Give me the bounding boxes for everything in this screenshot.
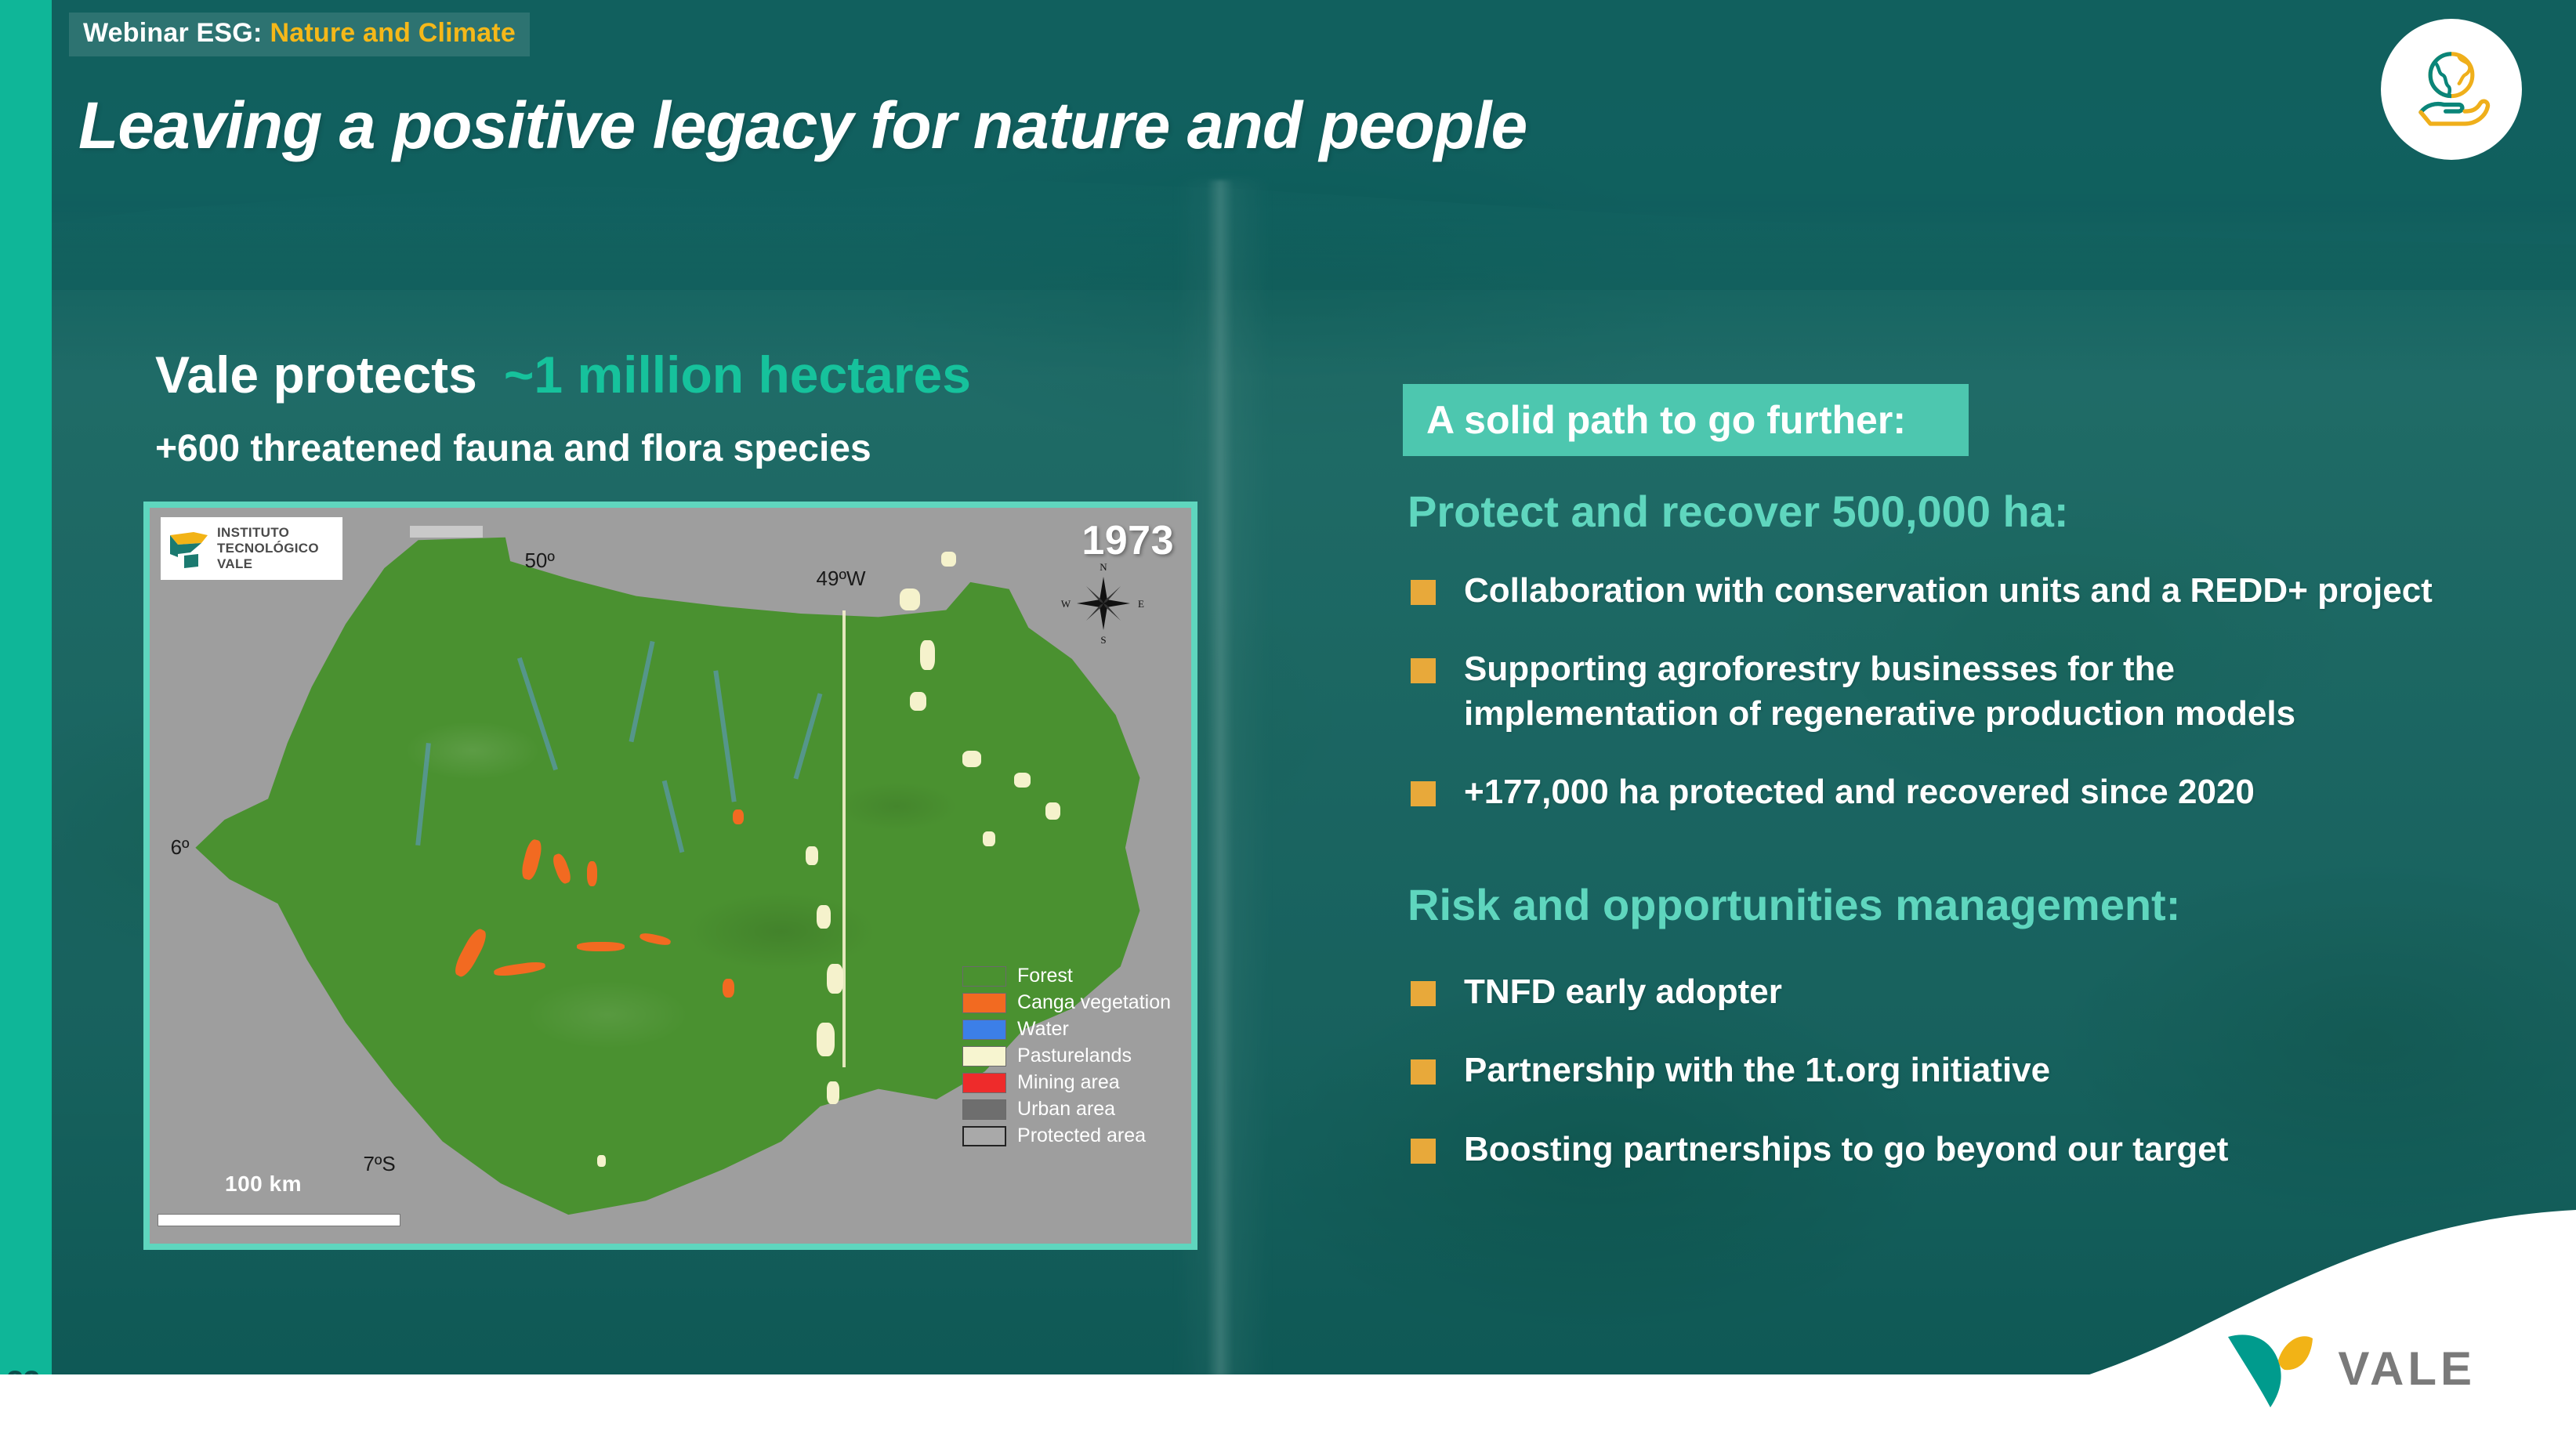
- compass-rose: N S W E: [1056, 555, 1150, 649]
- map-pasture-patch: [827, 964, 843, 994]
- vale-mark-icon: [2223, 1326, 2317, 1411]
- map-coordinate-label: 6º: [171, 835, 190, 860]
- legend-swatch-protected: [962, 1126, 1006, 1146]
- map-pasture-patch: [983, 831, 995, 846]
- itv-logo: INSTITUTO TECNOLÓGICO VALE: [161, 517, 342, 580]
- stat-subtitle: +600 threatened fauna and flora species: [155, 427, 871, 470]
- legend-swatch-water: [962, 1019, 1006, 1040]
- map-scale-bar: [158, 1214, 400, 1226]
- map-coordinate-label: 49ºW: [817, 567, 866, 591]
- map-pasture-patch: [910, 692, 926, 711]
- map-pasture-patch: [941, 552, 956, 567]
- map-canga-patch: [723, 979, 734, 998]
- list-item: TNFD early adopter: [1411, 970, 2508, 1014]
- map-pasture-patch: [900, 589, 921, 610]
- map-pasture-patch: [962, 751, 981, 767]
- legend-item: Forest: [962, 965, 1171, 987]
- solid-path-badge-label: A solid path to go further:: [1426, 397, 1906, 443]
- compass-icon: N S W E: [1056, 555, 1150, 649]
- bullet-square-icon: [1411, 580, 1436, 605]
- map-canga-patch: [733, 809, 743, 824]
- bullet-square-icon: [1411, 1059, 1436, 1085]
- legend-label: Mining area: [1017, 1071, 1120, 1094]
- svg-text:S: S: [1100, 634, 1106, 646]
- eyebrow-lead: Webinar ESG:: [83, 18, 262, 49]
- map-scale-label: 100 km: [225, 1172, 302, 1197]
- legend-swatch-pasturelands: [962, 1046, 1006, 1067]
- map-panel[interactable]: 1973 INSTITUTO TECNOLÓGICO VALE 50º 49ºW…: [143, 502, 1197, 1250]
- list-item: Boosting partnerships to go beyond our t…: [1411, 1128, 2508, 1172]
- legend-item: Protected area: [962, 1124, 1171, 1147]
- left-accent-strip: [0, 0, 52, 1445]
- vale-logo: VALE: [2223, 1326, 2476, 1411]
- legend-label: Forest: [1017, 965, 1073, 987]
- map-pasture-patch: [597, 1155, 606, 1167]
- stat-headline: Vale protects~1 million hectares: [155, 345, 971, 404]
- map-pasture-patch: [817, 1023, 835, 1056]
- svg-text:W: W: [1061, 598, 1071, 610]
- bullet-square-icon: [1411, 981, 1436, 1006]
- map-pasture-patch: [920, 640, 935, 670]
- legend-swatch-mining: [962, 1073, 1006, 1093]
- bullet-list-protect: Collaboration with conservation units an…: [1411, 569, 2508, 849]
- list-item-text: Partnership with the 1t.org initiative: [1464, 1048, 2050, 1092]
- legend-label: Protected area: [1017, 1124, 1146, 1147]
- map-pasture-patch: [817, 905, 831, 929]
- legend-label: Pasturelands: [1017, 1045, 1132, 1067]
- map-urban-patch: [410, 526, 483, 538]
- vale-wordmark: VALE: [2338, 1342, 2476, 1396]
- bullet-square-icon: [1411, 781, 1436, 806]
- list-item: +177,000 ha protected and recovered sinc…: [1411, 770, 2508, 814]
- map-pasture-patch: [806, 846, 818, 865]
- list-item-text: Supporting agroforestry businesses for t…: [1464, 647, 2389, 736]
- legend-item: Urban area: [962, 1098, 1171, 1121]
- bullet-square-icon: [1411, 658, 1436, 683]
- legend-label: Water: [1017, 1018, 1069, 1041]
- eyebrow-highlight: Nature and Climate: [270, 18, 515, 49]
- itv-logo-text: INSTITUTO TECNOLÓGICO VALE: [217, 525, 319, 572]
- section-heading-protect: Protect and recover 500,000 ha:: [1408, 486, 2069, 537]
- legend-item: Pasturelands: [962, 1045, 1171, 1067]
- eyebrow-tag: Webinar ESG: Nature and Climate: [69, 13, 530, 56]
- globe-in-hand-icon: [2404, 42, 2499, 137]
- legend-item: Water: [962, 1018, 1171, 1041]
- slide-title: Leaving a positive legacy for nature and…: [78, 88, 2116, 164]
- map-pasture-patch: [1014, 773, 1031, 788]
- bullet-square-icon: [1411, 1139, 1436, 1164]
- map-pasture-patch: [1045, 802, 1060, 820]
- map-road-corridor: [842, 610, 846, 1067]
- legend-swatch-canga: [962, 993, 1006, 1013]
- topic-badge: [2381, 19, 2522, 160]
- section-heading-risk: Risk and opportunities management:: [1408, 879, 2180, 930]
- itv-mark-icon: [167, 526, 211, 571]
- svg-text:N: N: [1100, 561, 1107, 573]
- legend-swatch-forest: [962, 966, 1006, 987]
- map-canvas: 1973 INSTITUTO TECNOLÓGICO VALE 50º 49ºW…: [150, 508, 1191, 1244]
- list-item-text: TNFD early adopter: [1464, 970, 1782, 1014]
- map-canga-patch: [587, 861, 597, 886]
- stat-prefix: Vale protects: [155, 346, 477, 404]
- map-legend: Forest Canga vegetation Water Pasturelan…: [962, 965, 1171, 1151]
- svg-text:E: E: [1138, 598, 1144, 610]
- list-item-text: +177,000 ha protected and recovered sinc…: [1464, 770, 2255, 814]
- bullet-list-risk: TNFD early adopter Partnership with the …: [1411, 970, 2508, 1206]
- stat-value: ~1 million hectares: [504, 346, 971, 404]
- list-item: Supporting agroforestry businesses for t…: [1411, 647, 2508, 736]
- legend-item: Mining area: [962, 1071, 1171, 1094]
- map-canga-patch: [577, 942, 625, 951]
- list-item-text: Collaboration with conservation units an…: [1464, 569, 2433, 613]
- list-item-text: Boosting partnerships to go beyond our t…: [1464, 1128, 2228, 1172]
- legend-item: Canga vegetation: [962, 991, 1171, 1014]
- map-coordinate-label: 50º: [524, 549, 554, 573]
- map-coordinate-label: 7ºS: [363, 1152, 395, 1176]
- legend-swatch-urban: [962, 1099, 1006, 1120]
- list-item: Partnership with the 1t.org initiative: [1411, 1048, 2508, 1092]
- list-item: Collaboration with conservation units an…: [1411, 569, 2508, 613]
- map-pasture-patch: [827, 1081, 839, 1103]
- legend-label: Urban area: [1017, 1098, 1115, 1121]
- solid-path-badge: A solid path to go further:: [1403, 384, 1969, 456]
- legend-label: Canga vegetation: [1017, 991, 1171, 1014]
- slide-root: 23 Webinar ESG: Nature and Climate Leavi…: [0, 0, 2576, 1445]
